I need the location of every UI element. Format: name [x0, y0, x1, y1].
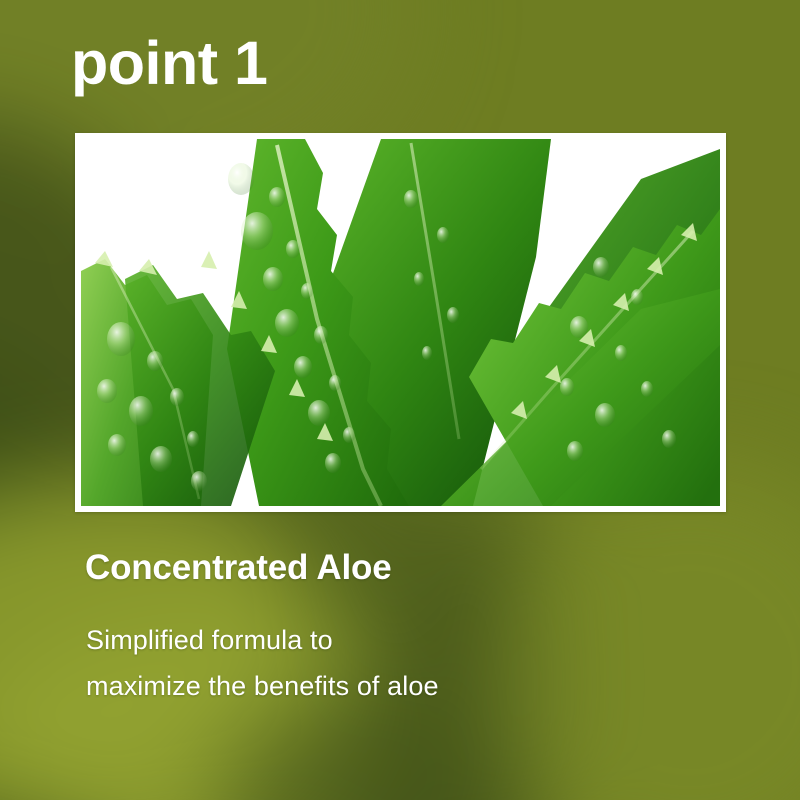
slide-canvas: point 1: [0, 0, 800, 800]
body-line-1: Simplified formula to: [86, 617, 439, 663]
slide-headline: Concentrated Aloe: [85, 548, 391, 588]
body-line-2: maximize the benefits of aloe: [86, 663, 439, 709]
slide-body-copy: Simplified formula to maximize the benef…: [86, 617, 439, 709]
photo-frame: [75, 133, 726, 512]
slide-eyebrow-title: point 1: [71, 33, 267, 94]
aloe-photo: [81, 139, 720, 506]
